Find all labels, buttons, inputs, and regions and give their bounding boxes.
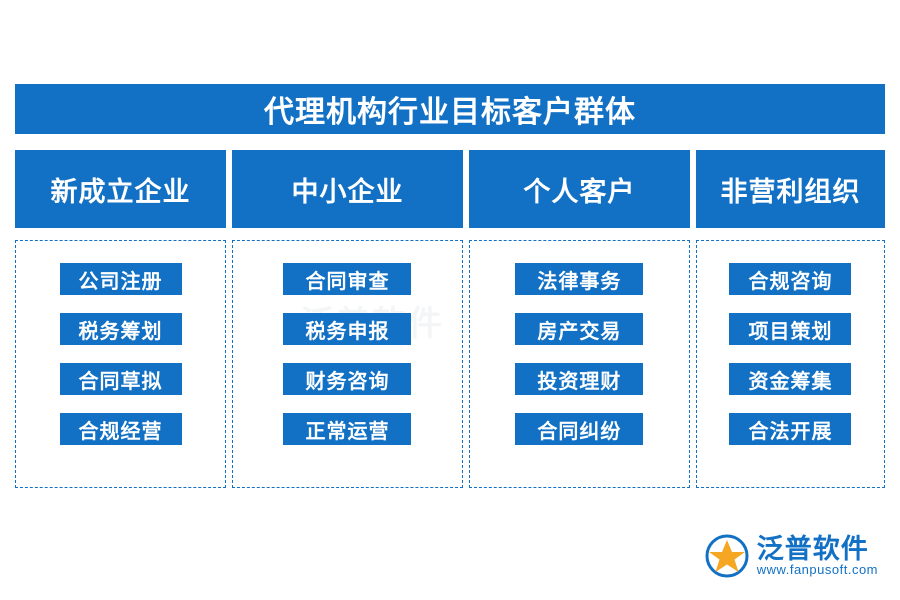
item-box[interactable]: 房产交易 bbox=[515, 313, 643, 345]
brand-name: 泛普软件 bbox=[757, 535, 878, 563]
item-label: 资金筹集 bbox=[748, 365, 832, 394]
item-label: 投资理财 bbox=[537, 365, 621, 394]
item-label: 税务筹划 bbox=[79, 315, 163, 344]
category-header-row: 新成立企业 中小企业 个人客户 非营利组织 bbox=[15, 150, 885, 228]
item-box[interactable]: 法律事务 bbox=[515, 263, 643, 295]
item-label: 合规经营 bbox=[79, 415, 163, 444]
item-label: 合法开展 bbox=[748, 415, 832, 444]
category-header-individual[interactable]: 个人客户 bbox=[469, 150, 690, 228]
fanpu-logo-icon bbox=[705, 534, 749, 578]
item-box[interactable]: 项目策划 bbox=[729, 313, 851, 345]
category-column-individual: 法律事务 房产交易 投资理财 合同纠纷 bbox=[469, 240, 690, 488]
item-label: 正常运营 bbox=[305, 415, 389, 444]
category-column-sme: 合同审查 税务申报 财务咨询 正常运营 bbox=[232, 240, 463, 488]
item-label: 合同审查 bbox=[305, 265, 389, 294]
category-header-nonprofit[interactable]: 非营利组织 bbox=[696, 150, 885, 228]
category-header-label: 非营利组织 bbox=[720, 170, 860, 209]
item-box[interactable]: 合同草拟 bbox=[60, 363, 182, 395]
item-box[interactable]: 合同审查 bbox=[283, 263, 411, 295]
category-items-row: 公司注册 税务筹划 合同草拟 合规经营 合同审查 税务申报 财务咨询 bbox=[15, 240, 885, 488]
brand-logo-texts: 泛普软件 www.fanpusoft.com bbox=[757, 535, 878, 577]
item-box[interactable]: 正常运营 bbox=[283, 413, 411, 445]
brand-logo: 泛普软件 www.fanpusoft.com bbox=[705, 534, 878, 578]
item-box[interactable]: 合规咨询 bbox=[729, 263, 851, 295]
item-label: 合规咨询 bbox=[748, 265, 832, 294]
item-box[interactable]: 公司注册 bbox=[60, 263, 182, 295]
category-header-label: 个人客户 bbox=[523, 170, 635, 209]
item-box[interactable]: 合规经营 bbox=[60, 413, 182, 445]
diagram-canvas: 泛普软件 代理机构行业目标客户群体 新成立企业 中小企业 个人客户 非营利组织 … bbox=[0, 0, 900, 600]
item-label: 税务申报 bbox=[305, 315, 389, 344]
brand-url: www.fanpusoft.com bbox=[757, 563, 878, 577]
category-header-new-companies[interactable]: 新成立企业 bbox=[15, 150, 226, 228]
category-column-nonprofit: 合规咨询 项目策划 资金筹集 合法开展 bbox=[696, 240, 885, 488]
item-box[interactable]: 税务筹划 bbox=[60, 313, 182, 345]
item-box[interactable]: 合同纠纷 bbox=[515, 413, 643, 445]
item-label: 法律事务 bbox=[537, 265, 621, 294]
category-header-label: 新成立企业 bbox=[51, 170, 191, 209]
category-column-new-companies: 公司注册 税务筹划 合同草拟 合规经营 bbox=[15, 240, 226, 488]
item-box[interactable]: 税务申报 bbox=[283, 313, 411, 345]
item-box[interactable]: 财务咨询 bbox=[283, 363, 411, 395]
item-label: 合同草拟 bbox=[79, 365, 163, 394]
item-label: 财务咨询 bbox=[305, 365, 389, 394]
item-label: 房产交易 bbox=[537, 315, 621, 344]
diagram-title: 代理机构行业目标客户群体 bbox=[15, 84, 885, 134]
diagram-title-label: 代理机构行业目标客户群体 bbox=[264, 87, 636, 131]
item-label: 公司注册 bbox=[79, 265, 163, 294]
item-box[interactable]: 合法开展 bbox=[729, 413, 851, 445]
item-label: 项目策划 bbox=[748, 315, 832, 344]
item-box[interactable]: 资金筹集 bbox=[729, 363, 851, 395]
category-header-sme[interactable]: 中小企业 bbox=[232, 150, 463, 228]
item-box[interactable]: 投资理财 bbox=[515, 363, 643, 395]
item-label: 合同纠纷 bbox=[537, 415, 621, 444]
category-header-label: 中小企业 bbox=[291, 170, 403, 209]
